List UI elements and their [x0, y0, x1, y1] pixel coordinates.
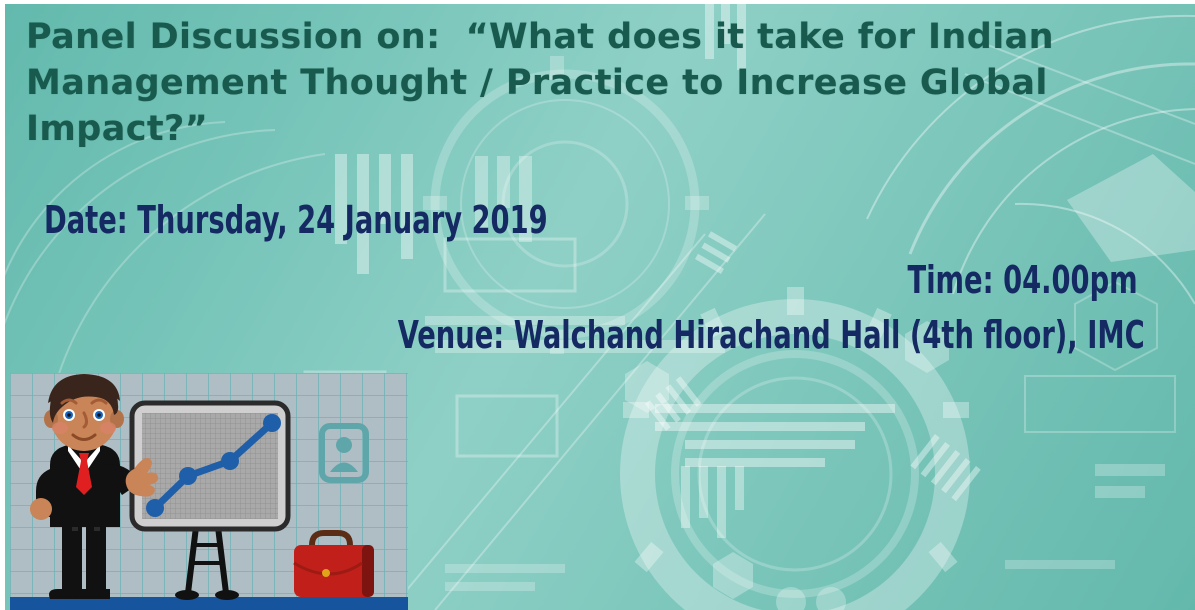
cheek-right — [100, 422, 116, 434]
leg-left — [62, 525, 82, 595]
event-poster: Panel Discussion on: “What does it take … — [0, 0, 1195, 610]
border-left — [0, 0, 5, 610]
event-venue: Venue: Walchand Hirachand Hall (4th floo… — [398, 313, 1145, 357]
easel-foot-right — [215, 590, 239, 600]
event-time: Time: 04.00pm — [908, 258, 1138, 302]
page-title: Panel Discussion on: “What does it take … — [26, 14, 1136, 152]
leg-right — [86, 525, 106, 595]
chart-point — [263, 414, 281, 432]
chart-point — [146, 499, 164, 517]
businessman-chart-illustration — [10, 373, 408, 610]
border-top — [0, 0, 1195, 4]
easel-foot-left — [175, 590, 199, 600]
chart-point — [221, 452, 239, 470]
event-date: Date: Thursday, 24 January 2019 — [44, 198, 548, 242]
cheek-left — [52, 422, 68, 434]
fist-left — [30, 498, 52, 520]
presenter-illustration — [10, 373, 408, 610]
briefcase-clasp — [322, 569, 330, 577]
chart-point — [179, 467, 197, 485]
shoe-right — [75, 589, 110, 599]
